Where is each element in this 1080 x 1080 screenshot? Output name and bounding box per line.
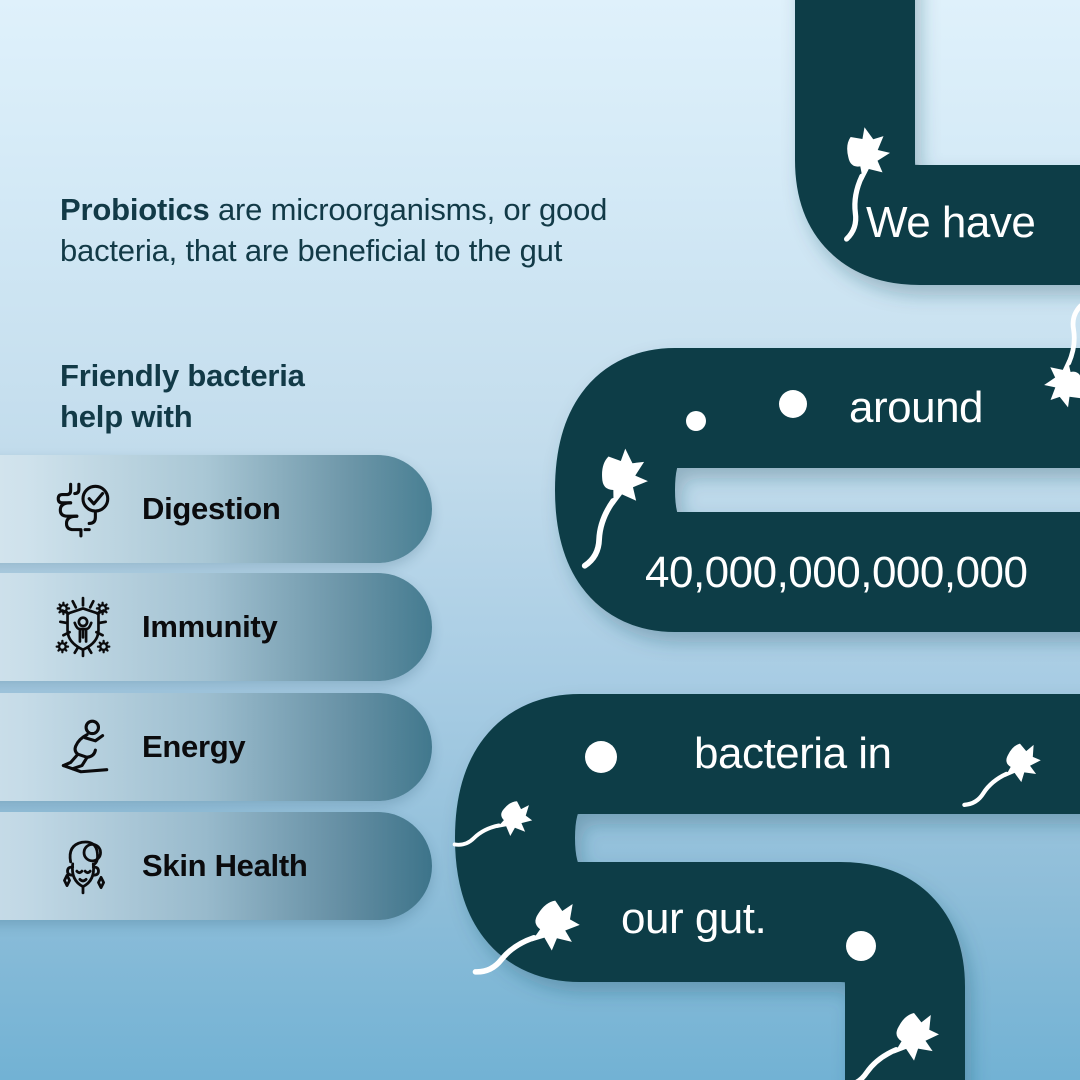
gut-text-bacteria-count: 40,000,000,000,000	[645, 548, 1028, 598]
benefit-label: Immunity	[142, 609, 277, 645]
gut-segment-bottom	[515, 754, 1080, 1080]
microbe-dot	[846, 931, 876, 961]
benefit-item-skin-health[interactable]: Skin Health	[0, 812, 432, 920]
gut-text-line-1: We have	[866, 198, 1035, 248]
benefit-item-immunity[interactable]: Immunity	[0, 573, 432, 681]
gut-segment-top	[855, 0, 1080, 225]
benefits-heading-line-1: Friendly bacteria	[60, 355, 480, 396]
benefit-item-digestion[interactable]: Digestion	[0, 455, 432, 563]
intro-paragraph: Probiotics are microorganisms, or good b…	[60, 190, 620, 272]
benefit-label: Skin Health	[142, 848, 308, 884]
woman-face-icon	[50, 833, 116, 899]
gut-text-line-2: around	[849, 383, 983, 433]
running-person-icon	[50, 714, 116, 780]
benefits-heading-line-2: help with	[60, 396, 480, 437]
benefit-label: Digestion	[142, 491, 281, 527]
intestine-check-icon	[50, 476, 116, 542]
intro-lead-word: Probiotics	[60, 192, 210, 227]
infographic-canvas: We have around 40,000,000,000,000 bacter…	[0, 0, 1080, 1080]
shield-person-germs-icon	[50, 594, 116, 660]
benefit-item-energy[interactable]: Energy	[0, 693, 432, 801]
benefits-heading: Friendly bacteria help with	[60, 355, 480, 437]
gut-text-line-4: bacteria in	[694, 729, 892, 779]
microbe-dot	[779, 390, 807, 418]
microbe-dot	[686, 411, 706, 431]
gut-text-line-5: our gut.	[621, 894, 766, 944]
benefit-label: Energy	[142, 729, 245, 765]
microbe-dot	[585, 741, 617, 773]
